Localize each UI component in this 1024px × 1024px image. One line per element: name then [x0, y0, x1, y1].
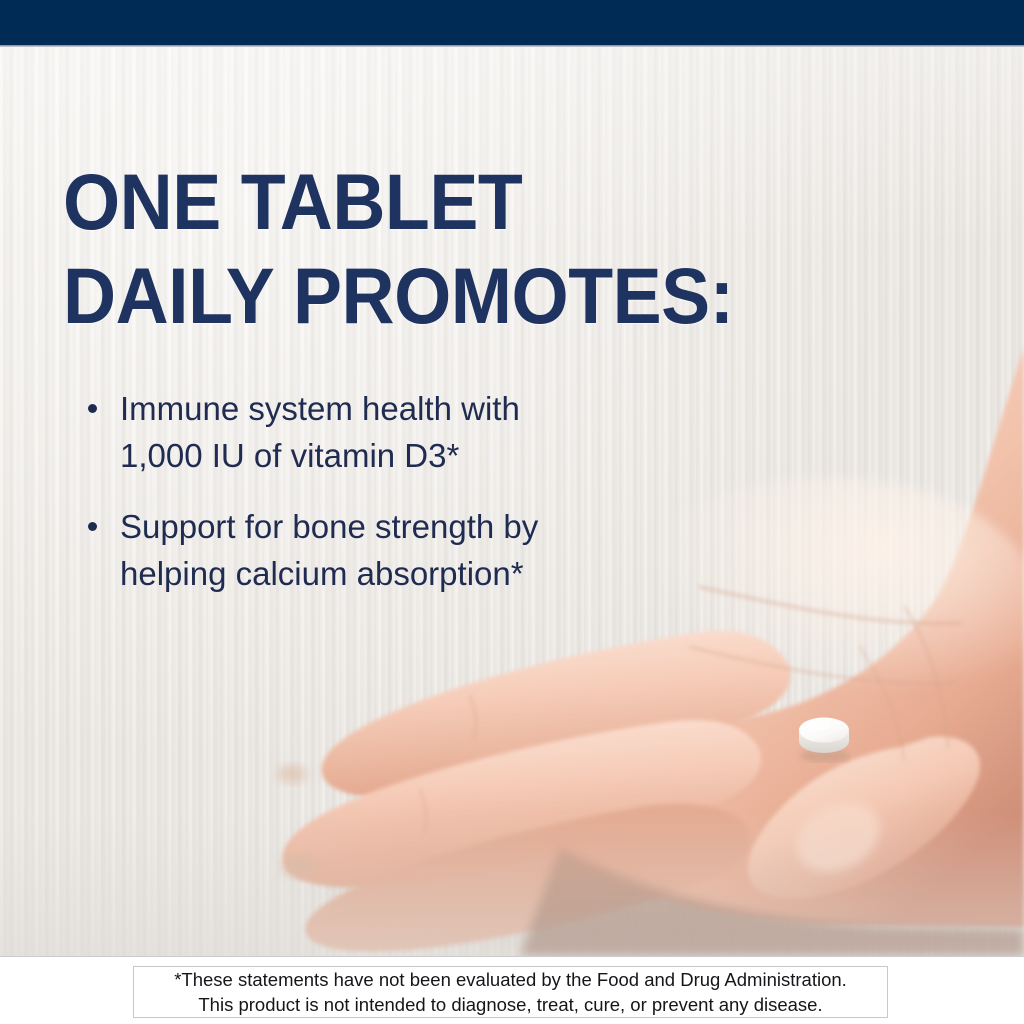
footer-divider [0, 956, 1024, 957]
disclaimer-line-2: This product is not intended to diagnose… [198, 992, 822, 1017]
page-title: ONE TABLET DAILY PROMOTES: [63, 155, 835, 343]
bullet-dot-icon [88, 404, 97, 413]
benefits-list: Immune system health with 1,000 IU of vi… [84, 385, 724, 621]
product-photo-stage: ONE TABLET DAILY PROMOTES: Immune system… [0, 47, 1024, 956]
fda-disclaimer-box: *These statements have not been evaluate… [133, 966, 888, 1018]
infographic-canvas: ONE TABLET DAILY PROMOTES: Immune system… [0, 0, 1024, 1024]
benefit-text: Support for bone strength by helping cal… [120, 503, 724, 597]
headline-line-2: DAILY PROMOTES: [63, 249, 835, 343]
bullet-dot-icon [88, 522, 97, 531]
list-item: Immune system health with 1,000 IU of vi… [84, 385, 724, 479]
headline-line-1: ONE TABLET [63, 155, 835, 249]
disclaimer-line-1: *These statements have not been evaluate… [174, 967, 847, 992]
top-navy-band [0, 0, 1024, 45]
white-round-tablet [796, 709, 851, 763]
benefit-text: Immune system health with 1,000 IU of vi… [120, 385, 724, 479]
list-item: Support for bone strength by helping cal… [84, 503, 724, 597]
footer-area: *These statements have not been evaluate… [0, 956, 1024, 1024]
